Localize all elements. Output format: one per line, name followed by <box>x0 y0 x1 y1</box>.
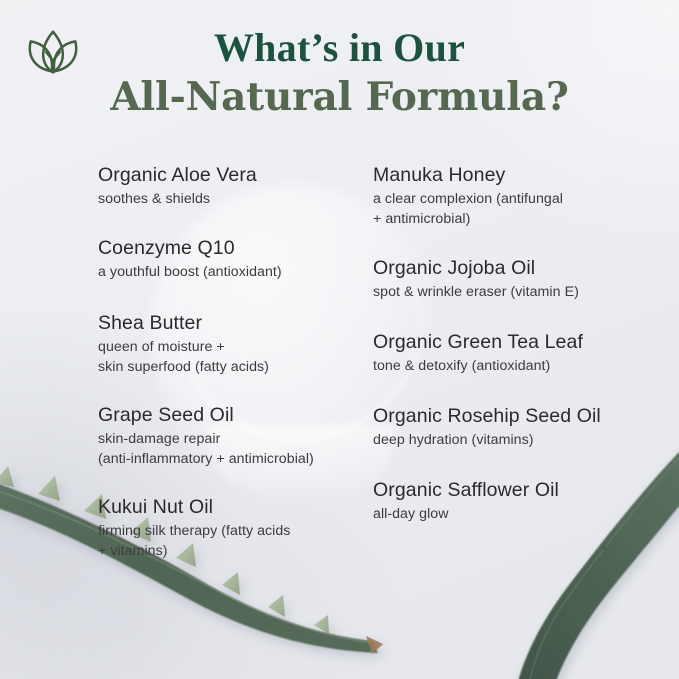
ingredient-description: firming silk therapy (fatty acids+ vitam… <box>98 522 290 561</box>
ingredient-name: Organic Rosehip Seed Oil <box>373 405 601 428</box>
ingredient-description: spot & wrinkle eraser (vitamin E) <box>373 283 579 303</box>
ingredient-name: Organic Aloe Vera <box>98 164 257 187</box>
ingredient-item: Kukui Nut Oil firming silk therapy (fatt… <box>98 496 290 561</box>
ingredient-description: soothes & shields <box>98 190 257 210</box>
ingredient-item: Shea Butter queen of moisture +skin supe… <box>98 312 269 377</box>
ingredient-description: a clear complexion (antifungal+ antimicr… <box>373 190 563 229</box>
ingredient-name: Grape Seed Oil <box>98 404 314 427</box>
ingredient-description: skin-damage repair(anti-inflammatory + a… <box>98 430 314 469</box>
ingredient-description: all-day glow <box>373 505 559 525</box>
ingredient-name: Manuka Honey <box>373 164 563 187</box>
page-title: What’s in Our All-Natural Formula? <box>0 24 679 122</box>
ingredient-description: deep hydration (vitamins) <box>373 431 601 451</box>
ingredient-item: Organic Safflower Oil all-day glow <box>373 479 559 525</box>
ingredient-item: Coenzyme Q10 a youthful boost (antioxida… <box>98 237 282 283</box>
ingredient-item: Organic Jojoba Oil spot & wrinkle eraser… <box>373 257 579 303</box>
ingredients-section: Organic Aloe Vera soothes & shields Coen… <box>0 164 679 584</box>
ingredient-name: Coenzyme Q10 <box>98 237 282 260</box>
title-line-secondary: All-Natural Formula? <box>0 73 679 122</box>
ingredient-item: Manuka Honey a clear complexion (antifun… <box>373 164 563 229</box>
ingredient-name: Organic Safflower Oil <box>373 479 559 502</box>
ingredient-description: a youthful boost (antioxidant) <box>98 263 282 283</box>
ingredient-name: Shea Butter <box>98 312 269 335</box>
ingredient-item: Organic Green Tea Leaf tone & detoxify (… <box>373 331 583 377</box>
ingredient-description: tone & detoxify (antioxidant) <box>373 357 583 377</box>
ingredient-name: Kukui Nut Oil <box>98 496 290 519</box>
ingredient-name: Organic Jojoba Oil <box>373 257 579 280</box>
ingredient-item: Organic Rosehip Seed Oil deep hydration … <box>373 405 601 451</box>
ingredient-item: Grape Seed Oil skin-damage repair(anti-i… <box>98 404 314 469</box>
title-line-primary: What’s in Our <box>0 24 679 73</box>
ingredient-description: queen of moisture +skin superfood (fatty… <box>98 338 269 377</box>
ingredient-item: Organic Aloe Vera soothes & shields <box>98 164 257 210</box>
ingredient-name: Organic Green Tea Leaf <box>373 331 583 354</box>
